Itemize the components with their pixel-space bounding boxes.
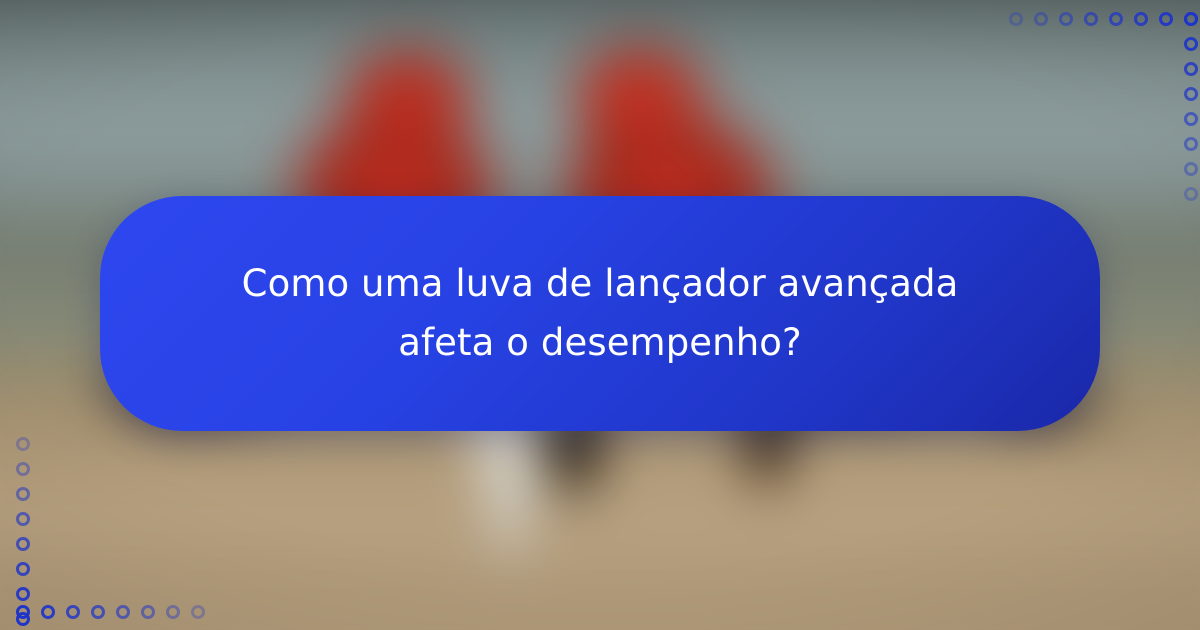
- dot-top-right-row-1: [1034, 12, 1048, 26]
- dot-top-right-col-0: [1184, 12, 1198, 26]
- dot-bottom-left-col-1: [16, 462, 30, 476]
- dot-bottom-left-col-6: [16, 587, 30, 601]
- dot-top-right-row-0: [1009, 12, 1023, 26]
- dot-top-right-col-5: [1184, 137, 1198, 151]
- dot-bottom-left-row-1: [41, 605, 55, 619]
- dot-top-right-row-5: [1134, 12, 1148, 26]
- dot-top-right-col-3: [1184, 87, 1198, 101]
- dot-top-right-col-4: [1184, 112, 1198, 126]
- question-card: Como uma luva de lançador avançada afeta…: [100, 196, 1100, 431]
- dot-bottom-left-row-5: [141, 605, 155, 619]
- share-card-canvas: Como uma luva de lançador avançada afeta…: [0, 0, 1200, 630]
- dot-top-right-col-7: [1184, 187, 1198, 201]
- dot-bottom-left-col-0: [16, 437, 30, 451]
- question-text: Como uma luva de lançador avançada afeta…: [165, 255, 1035, 372]
- dot-bottom-left-row-4: [116, 605, 130, 619]
- dot-top-right-col-6: [1184, 162, 1198, 176]
- dot-bottom-left-row-3: [91, 605, 105, 619]
- dot-bottom-left-col-5: [16, 562, 30, 576]
- dot-bottom-left-col-2: [16, 487, 30, 501]
- dot-bottom-left-col-3: [16, 512, 30, 526]
- dot-bottom-left-row-7: [191, 605, 205, 619]
- dot-bottom-left-col-4: [16, 537, 30, 551]
- dot-top-right-row-6: [1159, 12, 1173, 26]
- dot-bottom-left-col-7: [16, 612, 30, 626]
- dot-top-right-row-2: [1059, 12, 1073, 26]
- dot-top-right-col-1: [1184, 37, 1198, 51]
- dot-bottom-left-row-2: [66, 605, 80, 619]
- dot-bottom-left-row-6: [166, 605, 180, 619]
- dot-top-right-row-3: [1084, 12, 1098, 26]
- dot-top-right-col-2: [1184, 62, 1198, 76]
- dot-top-right-row-4: [1109, 12, 1123, 26]
